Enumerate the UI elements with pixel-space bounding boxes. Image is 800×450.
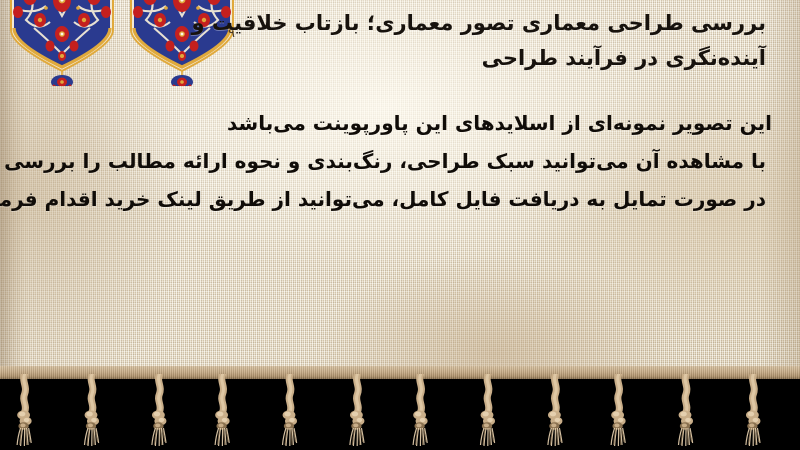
body-line: این تصویر نمونه‌ای از اسلایدهای این پاور… <box>12 104 772 142</box>
tassel-icon <box>146 374 170 448</box>
tassel-icon <box>476 374 500 448</box>
tassel-icon <box>542 374 566 448</box>
body-line: با مشاهده آن می‌توانید سبک طراحی، رنگ‌بن… <box>12 142 772 180</box>
tassel-icon <box>80 374 104 448</box>
slide-body: این تصویر نمونه‌ای از اسلایدهای این پاور… <box>12 104 772 218</box>
tassel-icon <box>608 374 632 448</box>
tassel-icon <box>212 374 236 448</box>
tassel-icon <box>278 374 302 448</box>
tassel-icon <box>410 374 434 448</box>
page-title: بررسی طراحی معماری تصور معماری؛ بازتاب خ… <box>46 6 766 76</box>
tassel-icon <box>674 374 698 448</box>
tassel-icon <box>344 374 368 448</box>
tassel-icon <box>14 374 38 448</box>
slide-canvas: ۹ بررسی طراحی معماری تصور معماری؛ بازتاب… <box>0 0 800 450</box>
body-line: در صورت تمایل به دریافت فایل کامل، می‌تو… <box>12 180 772 218</box>
tassel-fringe <box>0 366 800 450</box>
tassel-icon <box>740 374 764 448</box>
slide-text-layer: بررسی طراحی معماری تصور معماری؛ بازتاب خ… <box>0 0 800 384</box>
